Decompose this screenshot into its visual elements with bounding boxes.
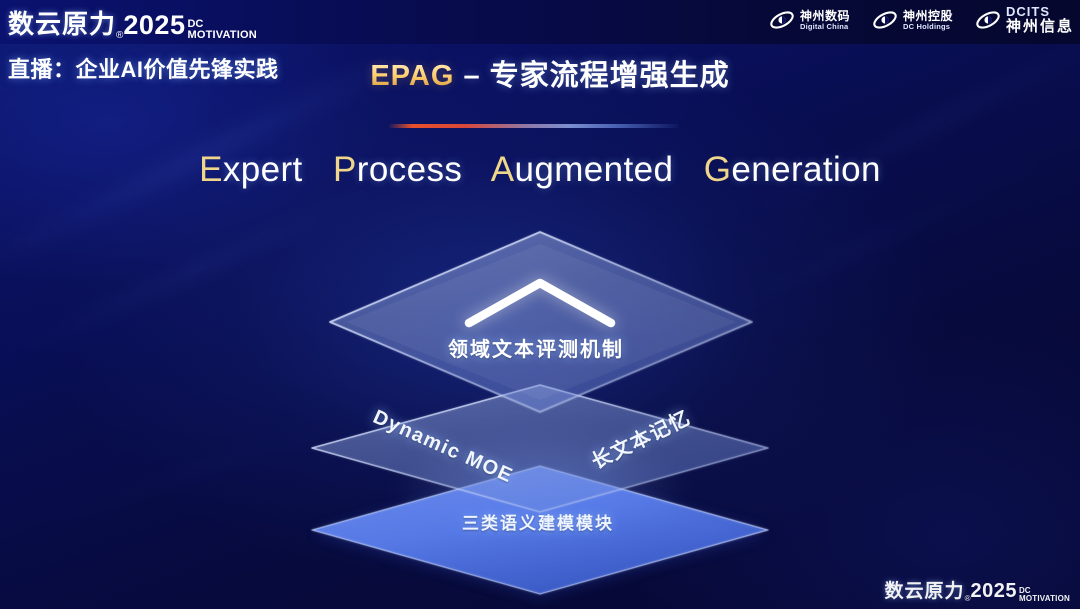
subtitle-space: [683, 150, 693, 189]
partner-name-en: Digital China: [800, 23, 850, 31]
partner-name-cn: 神州信息: [1006, 19, 1074, 35]
layer-label-bottom: 三类语义建模模块: [0, 509, 1078, 534]
page-subtitle: Expert Process Augmented Generation: [0, 150, 1080, 190]
chevron-up-icon: [469, 283, 611, 323]
subtitle-word: Expert: [199, 150, 303, 189]
layer-label-dynamic-moe: Dynamic MOE: [369, 406, 516, 488]
swirl-icon: [975, 7, 1001, 33]
swirl-icon: [769, 7, 795, 33]
title-chinese: 专家流程增强生成: [490, 60, 730, 92]
brand-year: 2025: [123, 10, 185, 41]
partner-name-cn: 神州数码: [800, 10, 850, 23]
partner-logo-group: 神州数码 Digital China 神州控股 DC Holdings: [769, 5, 1074, 35]
brand-logo-watermark: 数云原力 ® 2025 DC MOTIVATION: [885, 576, 1070, 603]
layer-label-long-text-memory: 长文本记忆: [586, 401, 695, 474]
subtitle-word: Generation: [704, 150, 881, 189]
swirl-icon: [872, 7, 898, 33]
brand-registered-mark: ®: [116, 30, 123, 41]
subtitle-word: Augmented: [491, 150, 674, 189]
brand-name-cn: 数云原力: [885, 576, 965, 603]
subtitle-rest: ugmented: [514, 150, 673, 189]
diagram-layer-top: [330, 232, 752, 412]
layer-label-top: 领域文本评测机制: [0, 333, 1076, 362]
partner-name-en: DCITS: [1006, 5, 1074, 19]
title-acronym: EPAG: [370, 60, 454, 92]
partner-label: 神州数码 Digital China: [800, 10, 850, 31]
partner-logo-digital-china: 神州数码 Digital China: [769, 7, 850, 33]
subtitle-word: Process: [333, 150, 462, 189]
partner-name-en: DC Holdings: [903, 23, 953, 31]
brand-logo-top: 数云原力 ® 2025 DC MOTIVATION: [8, 4, 257, 41]
title-divider: [389, 124, 679, 128]
brand-motivation-label: MOTIVATION: [1019, 595, 1070, 603]
partner-name-cn: 神州控股: [903, 10, 953, 23]
subtitle-space: [472, 150, 482, 189]
subtitle-capital: G: [704, 150, 732, 189]
brand-year: 2025: [970, 580, 1017, 603]
partner-label: 神州控股 DC Holdings: [903, 10, 953, 31]
background-streak: [722, 16, 1080, 236]
brand-name-cn: 数云原力: [8, 4, 116, 41]
partner-logo-dcits: 神州信息 DCITS: [975, 5, 1074, 35]
title-dash: –: [454, 60, 489, 92]
subtitle-space: [313, 150, 323, 189]
subtitle-capital: P: [333, 150, 357, 189]
partner-logo-dc-holdings: 神州控股 DC Holdings: [872, 7, 953, 33]
subtitle-rest: xpert: [223, 150, 303, 189]
slide-canvas: 数云原力 ® 2025 DC MOTIVATION 直播：企业AI价值先锋实践 …: [0, 0, 1080, 609]
diagram-layer-middle: [312, 385, 768, 512]
page-title: EPAG – 专家流程增强生成: [10, 52, 1080, 94]
brand-dc-motivation: DC MOTIVATION: [1019, 587, 1070, 603]
subtitle-capital: A: [491, 150, 515, 189]
subtitle-capital: E: [199, 150, 223, 189]
brand-motivation-label: MOTIVATION: [187, 30, 256, 41]
subtitle-rest: rocess: [357, 150, 463, 189]
partner-label: 神州信息 DCITS: [1006, 5, 1074, 35]
subtitle-rest: eneration: [731, 150, 881, 189]
brand-dc-motivation: DC MOTIVATION: [187, 19, 256, 41]
